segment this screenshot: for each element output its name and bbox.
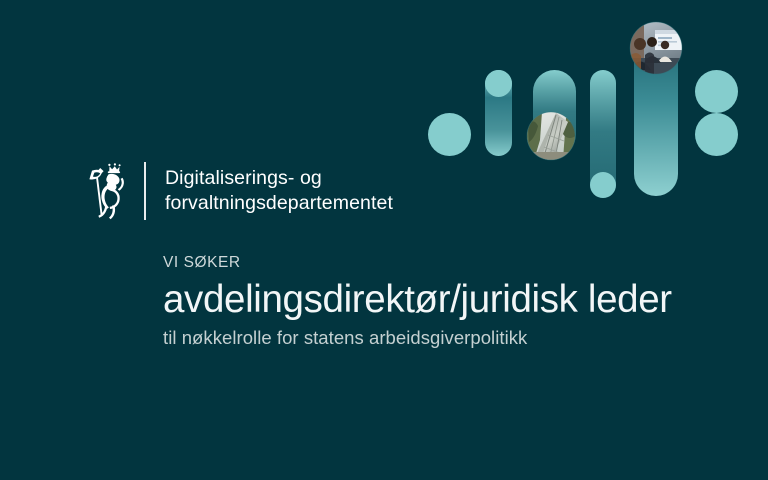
photo-bubble-meeting bbox=[630, 22, 682, 74]
decor-pill-3 bbox=[533, 70, 576, 156]
photo-bubble-building bbox=[527, 112, 578, 160]
decor-circle-top-right bbox=[695, 70, 738, 113]
department-name: Digitaliserings- og forvaltningsdepartem… bbox=[165, 166, 393, 216]
norwegian-coat-of-arms-lion-icon bbox=[86, 160, 130, 222]
logo-divider bbox=[144, 162, 146, 220]
job-title-heading: avdelingsdirektør/juridisk leder bbox=[163, 278, 743, 321]
decor-pill-4 bbox=[590, 70, 616, 198]
decor-circle-bottom-right bbox=[695, 113, 738, 156]
poster-canvas: Digitaliserings- og forvaltningsdepartem… bbox=[0, 0, 768, 480]
eyebrow-label: VI SØKER bbox=[163, 254, 743, 271]
decor-pill-2-cap bbox=[485, 70, 512, 97]
headline-block: VI SØKER avdelingsdirektør/juridisk lede… bbox=[163, 254, 743, 349]
decor-pill-5 bbox=[634, 25, 678, 196]
decor-pill-2 bbox=[485, 70, 512, 156]
department-logo-lockup: Digitaliserings- og forvaltningsdepartem… bbox=[86, 158, 393, 224]
decor-pill-4-cap bbox=[590, 172, 616, 198]
decor-circle-1 bbox=[428, 113, 471, 156]
job-subtitle: til nøkkelrolle for statens arbeidsgiver… bbox=[163, 327, 743, 349]
